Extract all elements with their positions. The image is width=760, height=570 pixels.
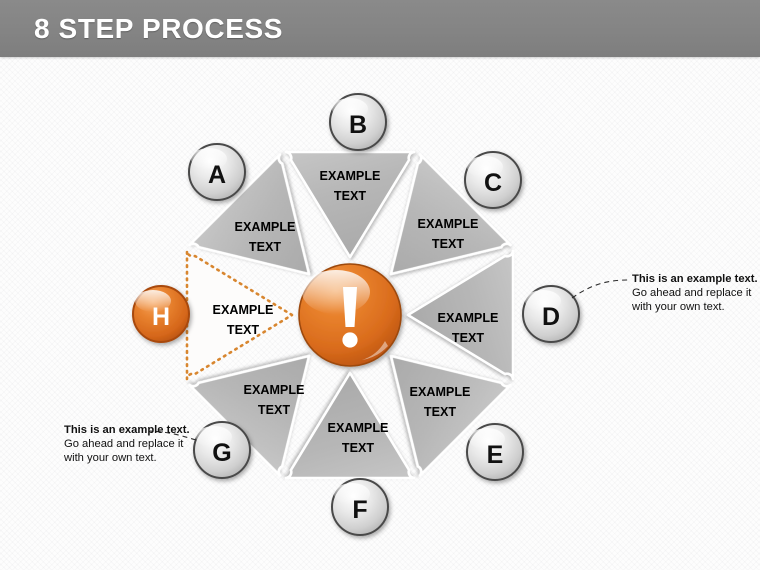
wedge-label-G-line1: EXAMPLE xyxy=(244,383,305,397)
wedge-step-B[interactable] xyxy=(286,152,414,257)
step-marker-C-letter: C xyxy=(484,169,502,197)
step-marker-E[interactable]: E xyxy=(467,424,523,480)
step-marker-B-letter: B xyxy=(349,111,367,139)
callout-right-lead: This is an example text. xyxy=(632,273,758,285)
wedge-label-F-line1: EXAMPLE xyxy=(328,421,389,435)
center-gloss xyxy=(302,270,370,314)
step-marker-A[interactable]: A xyxy=(189,144,245,200)
step-marker-F[interactable]: F xyxy=(332,479,388,535)
wedge-label-A-line1: EXAMPLE xyxy=(235,220,296,234)
wedge-label-B-line1: EXAMPLE xyxy=(320,169,381,183)
center-node[interactable] xyxy=(299,264,401,366)
callout-left[interactable]: This is an example text. Go ahead and re… xyxy=(64,423,194,466)
callout-right-body: Go ahead and replace it with your own te… xyxy=(632,287,751,313)
wedge-label-A-line2: TEXT xyxy=(249,240,281,254)
step-marker-D[interactable]: D xyxy=(523,286,579,342)
wedge-label-D-line2: TEXT xyxy=(452,331,484,345)
wedge-label-D-line1: EXAMPLE xyxy=(438,311,499,325)
step-marker-E-letter: E xyxy=(487,441,504,469)
step-marker-B[interactable]: B xyxy=(330,94,386,150)
step-marker-H-letter: H xyxy=(152,303,170,331)
callout-left-lead: This is an example text. xyxy=(64,424,190,436)
callout-left-body: Go ahead and replace it with your own te… xyxy=(64,438,183,464)
wedge-label-H-line2: TEXT xyxy=(227,323,259,337)
step-marker-C[interactable]: C xyxy=(465,152,521,208)
wedge-label-C-line1: EXAMPLE xyxy=(418,217,479,231)
wedge-label-H-line1: EXAMPLE xyxy=(213,303,274,317)
wedge-label-E-line2: TEXT xyxy=(424,405,456,419)
wedge-label-F-line2: TEXT xyxy=(342,441,374,455)
leader-line-right xyxy=(572,280,628,298)
wedge-label-B-line2: TEXT xyxy=(334,189,366,203)
step-marker-H[interactable]: H xyxy=(133,286,189,342)
step-marker-G-letter: G xyxy=(212,439,231,467)
wedge-label-G-line2: TEXT xyxy=(258,403,290,417)
step-marker-A-letter: A xyxy=(208,161,226,189)
step-marker-G[interactable]: G xyxy=(194,422,250,478)
callout-right[interactable]: This is an example text. Go ahead and re… xyxy=(632,272,760,315)
wedge-label-E-line1: EXAMPLE xyxy=(410,385,471,399)
wedge-label-C-line2: TEXT xyxy=(432,237,464,251)
step-marker-D-letter: D xyxy=(542,303,560,331)
slide-canvas: 8 STEP PROCESS xyxy=(0,0,760,570)
step-marker-F-letter: F xyxy=(352,496,367,524)
